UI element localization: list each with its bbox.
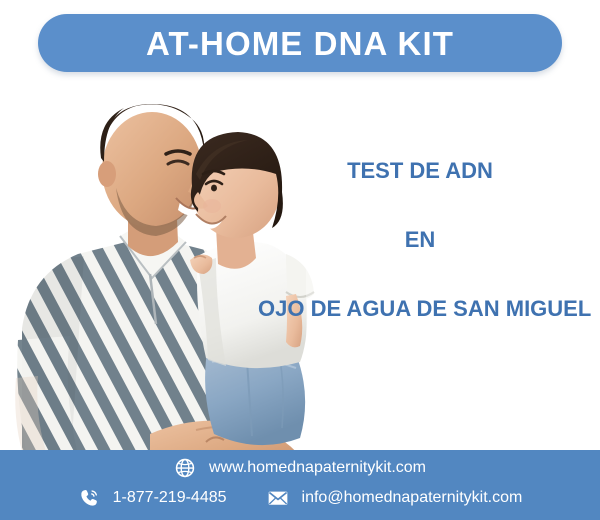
website-contact[interactable]: www.homednapaternitykit.com — [174, 457, 426, 479]
headline-line-3: OJO DE AGUA DE SAN MIGUEL — [258, 298, 600, 320]
website-label: www.homednapaternitykit.com — [209, 460, 426, 476]
footer-contact-bar: www.homednapaternitykit.com 1-877-219-44… — [0, 450, 600, 520]
page-title: AT-HOME DNA KIT — [146, 27, 454, 60]
headline-line-1: TEST DE ADN — [240, 160, 600, 182]
poster-canvas: AT-HOME DNA KIT TEST DE ADN EN OJO DE AG… — [0, 0, 600, 520]
headline-line-2: EN — [240, 229, 600, 251]
envelope-icon — [267, 487, 289, 509]
phone-contact[interactable]: 1-877-219-4485 — [78, 487, 227, 509]
email-label: info@homednapaternitykit.com — [302, 490, 523, 506]
header-banner: AT-HOME DNA KIT — [38, 14, 562, 72]
phone-label: 1-877-219-4485 — [113, 490, 227, 506]
footer-row-phone-email: 1-877-219-4485 info@homednapaternitykit.… — [0, 487, 600, 509]
email-contact[interactable]: info@homednapaternitykit.com — [267, 487, 523, 509]
headline-block: TEST DE ADN EN OJO DE AGUA DE SAN MIGUEL — [240, 160, 600, 320]
footer-row-website: www.homednapaternitykit.com — [0, 457, 600, 479]
globe-icon — [174, 457, 196, 479]
phone-icon — [78, 487, 100, 509]
